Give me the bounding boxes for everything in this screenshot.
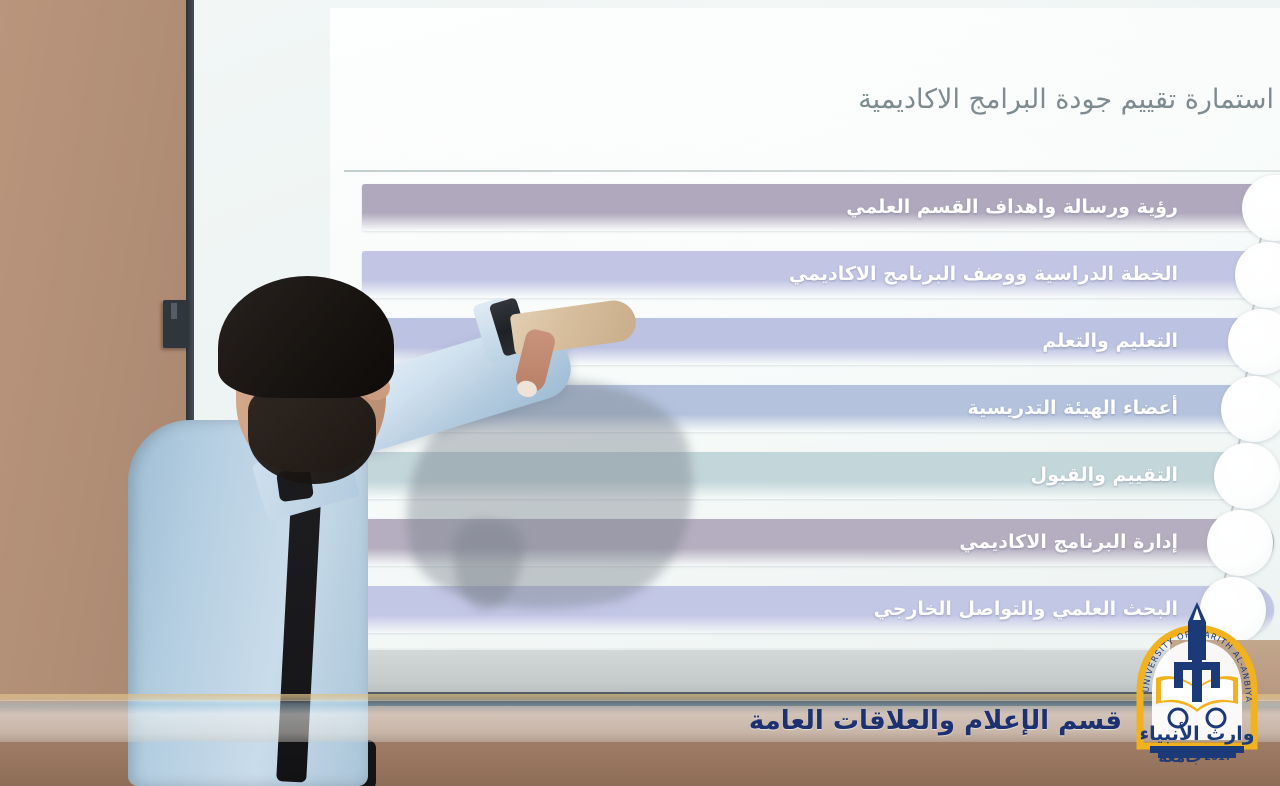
presenter-legs — [206, 740, 376, 786]
presenter-ear — [254, 374, 284, 414]
university-logo-mark: وارث الأنبياء جامعة 2017 UNIVERSITY OF W… — [1122, 600, 1272, 776]
process-step: أعضاء الهيئة التدريسية — [362, 385, 1274, 432]
university-logo: وارث الأنبياء جامعة 2017 UNIVERSITY OF W… — [1122, 600, 1272, 776]
projected-slide: استمارة تقييم جودة البرامج الاكاديمية رؤ… — [330, 8, 1280, 648]
screenshot-root: استمارة تقييم جودة البرامج الاكاديمية رؤ… — [0, 0, 1280, 786]
process-step-label: إدارة البرنامج الاكاديمي — [959, 519, 1178, 566]
room-wall-left — [0, 0, 196, 786]
process-step: رؤية ورسالة واهداف القسم العلمي — [362, 184, 1274, 231]
presenter-tie-knot — [276, 468, 314, 502]
process-diagram: رؤية ورسالة واهداف القسم العلميالخطة الد… — [330, 8, 1280, 648]
presenter-tie — [276, 481, 322, 782]
process-step-label: التعليم والتعلم — [1042, 318, 1178, 365]
process-step-node — [1221, 376, 1280, 442]
process-step-node — [1228, 309, 1280, 375]
logo-year: 2017 — [1204, 752, 1232, 763]
logo-name-ar: وارث الأنبياء — [1139, 722, 1254, 745]
process-step-node — [1207, 510, 1273, 576]
process-step: الخطة الدراسية ووصف البرنامج الاكاديمي — [362, 251, 1274, 298]
process-step-label: أعضاء الهيئة التدريسية — [967, 385, 1178, 432]
process-step-label: التقييم والقبول — [1031, 452, 1178, 499]
logo-sub-ar: جامعة — [1158, 748, 1201, 766]
process-step: إدارة البرنامج الاكاديمي — [362, 519, 1274, 566]
process-step: التقييم والقبول — [362, 452, 1274, 499]
process-step-label: رؤية ورسالة واهداف القسم العلمي — [846, 184, 1178, 231]
process-step: التعليم والتعلم — [362, 318, 1274, 365]
process-step-node — [1214, 443, 1280, 509]
wall-bracket — [163, 300, 189, 348]
banner-department-text: قسم الإعلام والعلاقات العامة — [749, 700, 1122, 742]
process-step-label: الخطة الدراسية ووصف البرنامج الاكاديمي — [789, 251, 1178, 298]
whiteboard-left-frame — [186, 0, 194, 720]
